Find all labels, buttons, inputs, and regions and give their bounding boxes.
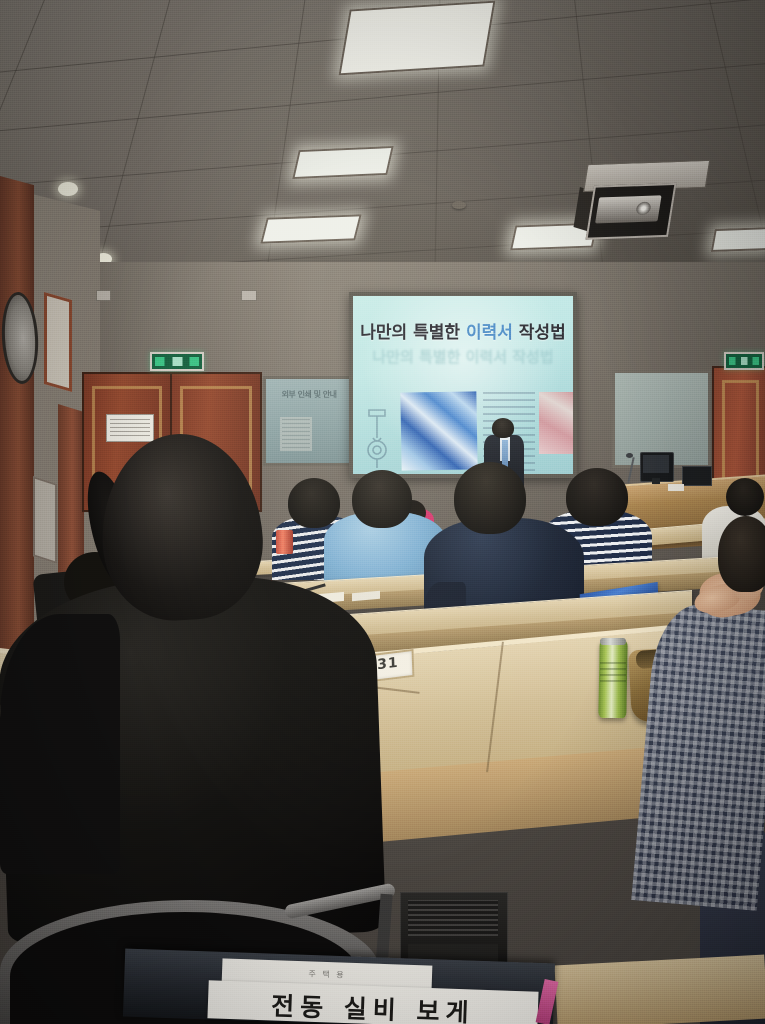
slide-title-part2: 작성법	[513, 323, 566, 343]
lecture-hall-photo: 외부 인쇄 및 안내 나만의 특별한 이력서 작성법	[0, 0, 765, 1024]
presenter-head	[492, 418, 514, 438]
wall-framed-notice-lower	[33, 476, 57, 564]
exit-glyph-icon	[155, 357, 199, 366]
podium-laptop	[682, 466, 712, 486]
ceiling-light-panel	[711, 227, 765, 252]
slide-image-right	[539, 392, 573, 454]
projection-screen: 나만의 특별한 이력서 작성법 나만의 특별한 이력서 작성법	[353, 296, 573, 474]
microphone-icon	[626, 453, 633, 458]
exit-sign-left	[150, 352, 204, 371]
wall-plate	[241, 290, 257, 301]
red-cup	[276, 530, 293, 554]
person-right-head	[718, 516, 765, 592]
student-navy-head	[454, 462, 526, 534]
podium-monitor-screen	[643, 455, 669, 473]
podium-monitor-stand	[652, 478, 660, 484]
trumpet-illustration-icon	[363, 404, 405, 474]
slide-image-left	[400, 391, 477, 470]
exit-glyph-icon	[729, 357, 759, 365]
slide-subtitle-ghost: 나만의 특별한 이력서 작성법	[353, 346, 573, 367]
ceiling-projector	[576, 160, 709, 238]
signboard-main-text: 전동 실비 보게	[207, 984, 538, 1024]
whiteboard-title: 외부 인쇄 및 안내	[274, 389, 344, 400]
student-striped-left-head	[288, 478, 340, 528]
wall-framed-notice	[44, 292, 72, 392]
student-white-shirt-head	[726, 478, 764, 516]
door-notice	[106, 414, 154, 442]
whiteboard-note	[280, 417, 312, 451]
can-label-band	[600, 662, 626, 682]
smoke-detector-icon	[452, 201, 466, 209]
slide-title-part1: 나만의 특별한	[360, 323, 466, 343]
exit-sign-right	[724, 352, 764, 370]
ceiling-light-panel	[339, 1, 496, 76]
student-striped-right-head	[566, 468, 628, 526]
ceiling-downlight	[58, 182, 78, 196]
equipment-vent	[408, 900, 498, 936]
projection-screen-frame: 나만의 특별한 이력서 작성법 나만의 특별한 이력서 작성법	[349, 292, 577, 478]
desk-bottom-right	[554, 955, 765, 1024]
student-lightblue-head	[352, 470, 412, 528]
can-top	[600, 638, 626, 645]
ceiling-light-panel	[292, 146, 394, 179]
podium-paper	[668, 484, 684, 491]
whiteboard: 외부 인쇄 및 안내	[263, 376, 357, 466]
ceiling-light-panel	[260, 214, 361, 243]
foreground-man-shoulder	[0, 614, 120, 874]
slide-title-highlight: 이력서	[466, 323, 513, 343]
projector-housing	[585, 183, 676, 240]
wall-plate	[96, 290, 111, 301]
slide-title: 나만의 특별한 이력서 작성법	[353, 318, 573, 343]
